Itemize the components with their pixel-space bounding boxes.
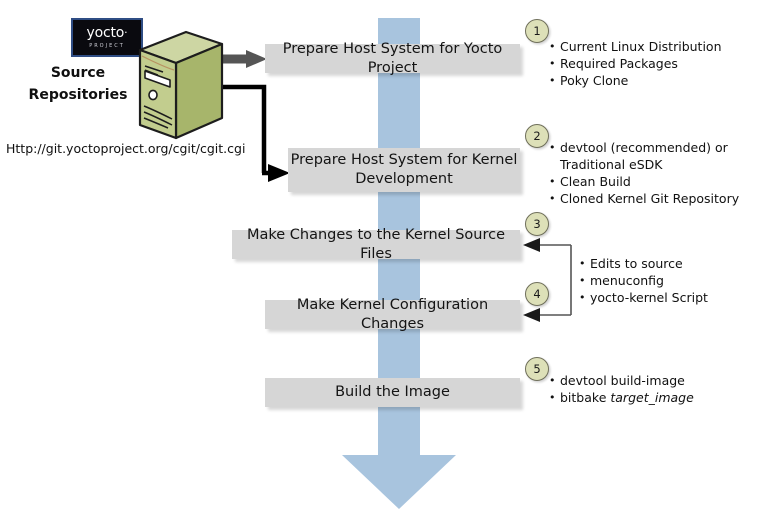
process-box-prepare-host-yocto[interactable]: Prepare Host System for Yocto Project [265,44,520,73]
process-box-build-image[interactable]: Build the Image [265,378,520,407]
bullet-text: bitbake [560,390,610,405]
arrow-server-to-box2 [218,87,290,182]
list-item: menuconfig [578,272,763,289]
logo-dot: · [124,26,127,39]
repository-url: Http://git.yoctoproject.org/cgit/cgit.cg… [6,141,245,156]
bullet-text: devtool (recommended) or [560,140,728,155]
process-box-label-line2: Development [291,170,518,189]
bullet-text: Edits to source [590,256,683,271]
bullet-text: menuconfig [590,273,664,288]
process-box-label-line1: Prepare Host System for Kernel [291,151,518,170]
step-2-bullet-list: devtool (recommended) or Traditional eSD… [548,139,763,207]
step-number-badge-2: 2 [525,124,549,148]
step-1-bullet-list: Current Linux Distribution Required Pack… [548,38,763,89]
list-item: devtool (recommended) or Traditional eSD… [548,139,763,173]
step-number-text: 2 [533,129,540,143]
bullet-text: Current Linux Distribution [560,39,722,54]
list-item: Poky Clone [548,72,763,89]
source-repositories-line2: Repositories [14,84,142,106]
list-item: devtool build-image [548,372,763,389]
step-number-badge-5: 5 [525,357,549,381]
list-item: Edits to source [578,255,763,272]
logo-wordmark-text: yocto [87,25,125,41]
step-5-bullet-list: devtool build-image bitbake target_image [548,372,763,406]
process-box-label: Make Kernel Configuration Changes [265,296,520,334]
list-item: Cloned Kernel Git Repository [548,190,763,207]
list-item: Clean Build [548,173,763,190]
diagram-canvas: yocto· PROJECT Source Repositories Http:… [0,0,769,517]
step-number-text: 3 [533,217,540,231]
bullet-text: Clean Build [560,174,631,189]
step-number-badge-3: 3 [525,212,549,236]
bullet-text: Poky Clone [560,73,628,88]
step-number-badge-1: 1 [525,19,549,43]
steps-3-4-bullet-list: Edits to source menuconfig yocto-kernel … [578,255,763,306]
process-box-label: Prepare Host System for Yocto Project [265,40,520,78]
bullet-text: yocto-kernel Script [590,290,708,305]
step-number-text: 1 [533,24,540,38]
source-repositories-label: Source Repositories [14,62,142,106]
bullet-text: devtool build-image [560,373,685,388]
process-box-make-kernel-source-changes[interactable]: Make Changes to the Kernel Source Files [232,230,520,259]
bullet-text-continued: Traditional eSDK [560,156,763,173]
process-box-label: Make Changes to the Kernel Source Files [232,226,520,264]
bullet-text-italic: target_image [610,390,693,405]
bracket-to-box3-box4 [523,238,571,322]
source-repositories-line1: Source [14,62,142,84]
step-number-text: 4 [533,287,540,301]
step-number-text: 5 [533,362,540,376]
bullet-text: Required Packages [560,56,678,71]
process-box-prepare-host-kernel[interactable]: Prepare Host System for Kernel Developme… [288,148,520,192]
process-box-label: Build the Image [335,383,450,402]
server-tower-icon [130,30,228,142]
step-number-badge-4: 4 [525,282,549,306]
list-item: Required Packages [548,55,763,72]
list-item: Current Linux Distribution [548,38,763,55]
list-item: yocto-kernel Script [578,289,763,306]
list-item: bitbake target_image [548,389,763,406]
process-box-make-kernel-config-changes[interactable]: Make Kernel Configuration Changes [265,300,520,329]
bullet-text: Cloned Kernel Git Repository [560,191,739,206]
